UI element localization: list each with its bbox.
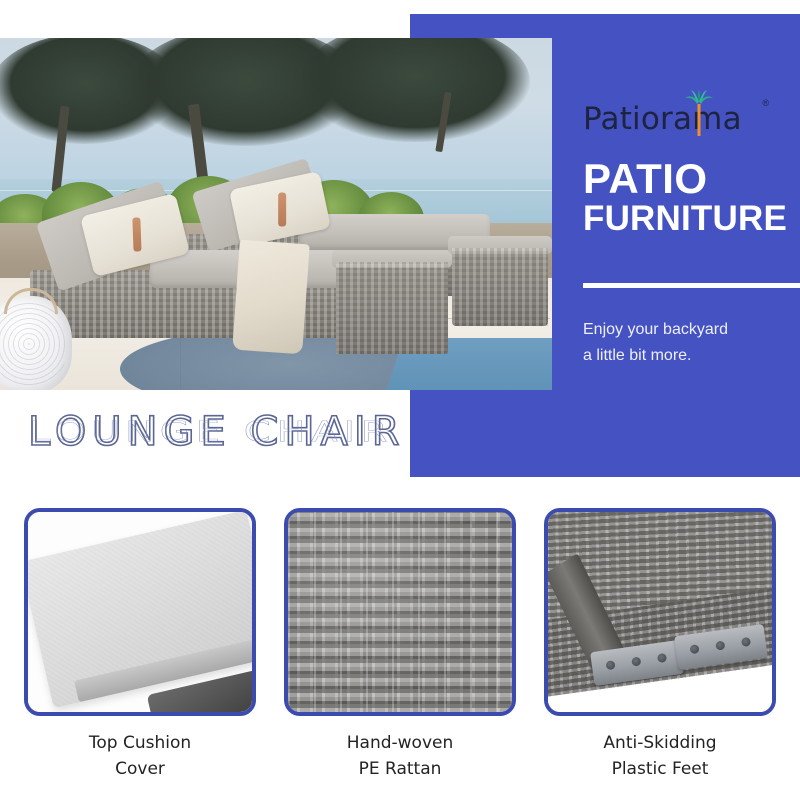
ottoman	[336, 262, 448, 354]
feature-card-row	[0, 508, 800, 720]
tagline: Enjoy your backyard a little bit more.	[583, 317, 798, 369]
rattan-weave-photo	[288, 512, 512, 712]
caption-line-2: PE Rattan	[284, 756, 516, 782]
headline-line-1: PATIO	[583, 158, 798, 199]
lantern-decor	[0, 296, 72, 390]
tagline-line-1: Enjoy your backyard	[583, 317, 798, 343]
caption-hand-woven-pe-rattan: Hand-woven PE Rattan	[284, 730, 516, 782]
page-title: PATIO FURNITURE	[583, 158, 798, 236]
product-title: LOUNGE CHAIR LOUNGE CHAIR	[28, 404, 408, 460]
tree-icon	[300, 38, 530, 172]
ottoman	[452, 248, 548, 326]
palm-tree-icon	[684, 90, 714, 138]
headline-line-2: FURNITURE	[583, 202, 798, 236]
registered-mark: ®	[762, 98, 769, 108]
divider	[583, 283, 800, 288]
caption-line-2: Cover	[24, 756, 256, 782]
feature-card-top-cushion-cover[interactable]	[24, 508, 256, 716]
hero-product-photo	[0, 38, 552, 390]
caption-line-1: Top Cushion	[24, 730, 256, 756]
product-title-inline-stroke: LOUNGE CHAIR	[29, 412, 396, 452]
caption-anti-skidding-plastic-feet: Anti-Skidding Plastic Feet	[544, 730, 776, 782]
caption-top-cushion-cover: Top Cushion Cover	[24, 730, 256, 782]
brand-logo: Patiorama ®	[583, 96, 793, 142]
feature-card-anti-skidding-plastic-feet[interactable]	[544, 508, 776, 716]
throw-blanket	[232, 240, 310, 355]
brand-name: Patiorama	[583, 101, 742, 137]
feature-caption-row: Top Cushion Cover Hand-woven PE Rattan A…	[0, 730, 800, 790]
caption-line-1: Anti-Skidding	[544, 730, 776, 756]
caption-line-1: Hand-woven	[284, 730, 516, 756]
caption-line-2: Plastic Feet	[544, 756, 776, 782]
feature-card-hand-woven-pe-rattan[interactable]	[284, 508, 516, 716]
tagline-line-2: a little bit more.	[583, 343, 798, 369]
